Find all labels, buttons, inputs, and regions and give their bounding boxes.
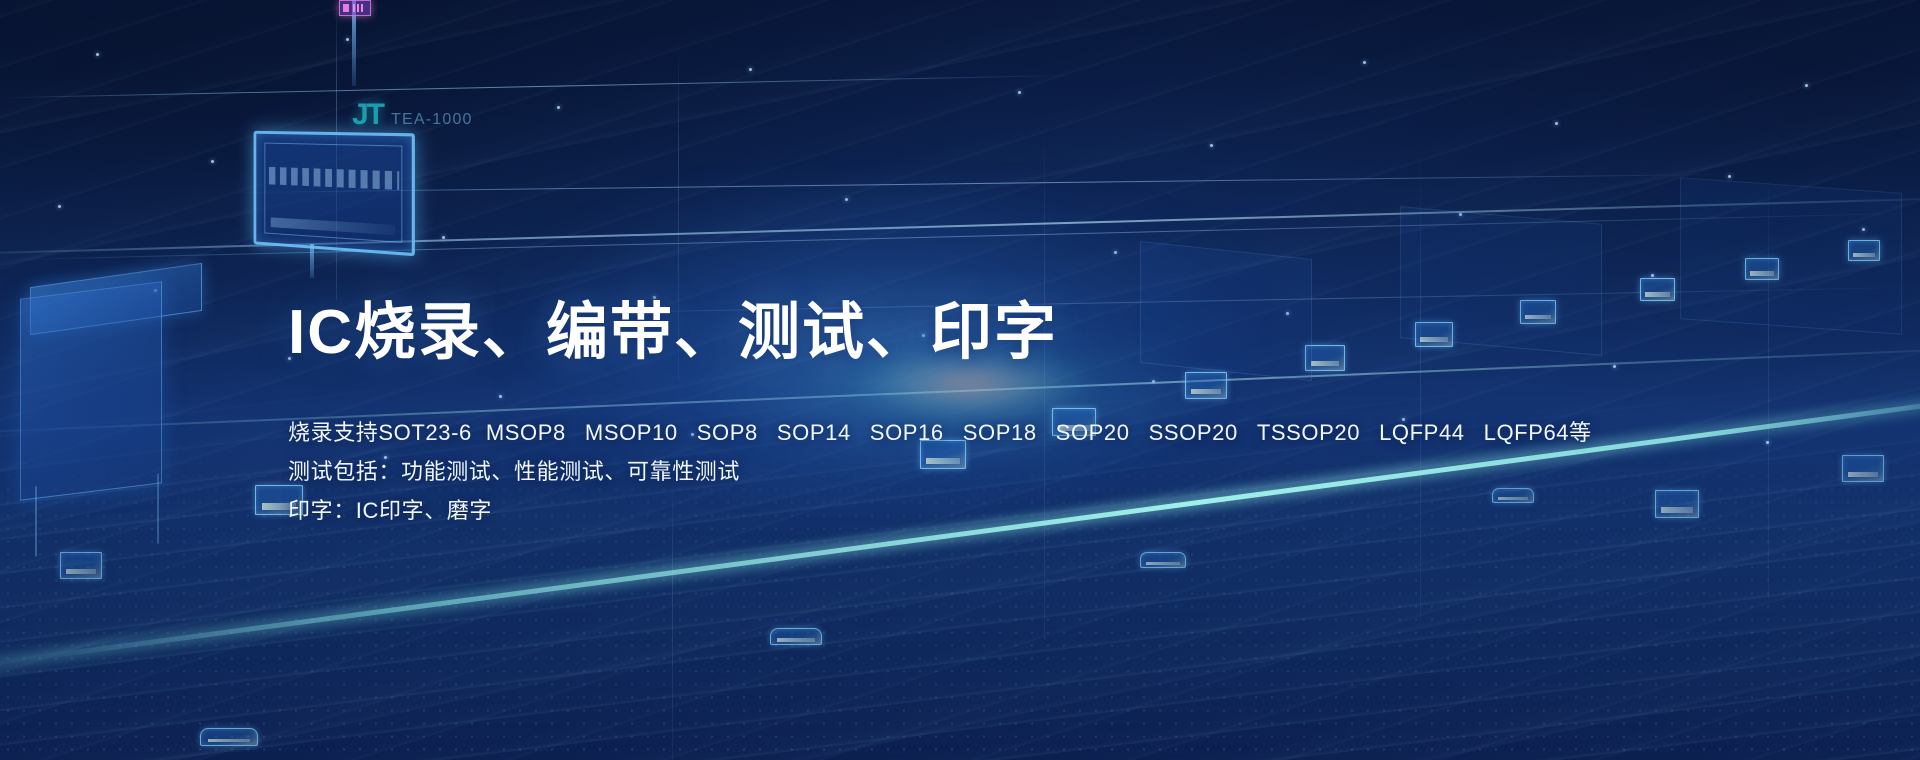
page-title: IC烧录、编带、测试、印字 [288,300,1568,367]
list-item: SOP8 [697,413,758,452]
list-item-burn-support: 烧录支持SOT23-6MSOP8MSOP10SOP8SOP14SOP16SOP1… [288,413,1568,452]
list-item-testing-scope: 测试包括：功能测试、性能测试、可靠性测试 [288,452,1568,491]
list-item: SSOP20 [1149,413,1238,452]
burn-support-lead: 烧录支持SOT23-6 [288,420,472,445]
banner-content: IC烧录、编带、测试、印字 烧录支持SOT23-6MSOP8MSOP10SOP8… [288,300,1568,530]
equipment-watermark: JT TEA-1000 [352,98,473,132]
watermark-logo-mark: JT [352,98,383,132]
list-item: SOP14 [777,413,851,452]
list-item: TSSOP20 [1257,413,1360,452]
list-item: MSOP8 [486,413,566,452]
package-list: MSOP8MSOP10SOP8SOP14SOP16SOP18SOP20SSOP2… [486,420,1592,445]
status-tag-icon [339,0,371,16]
hero-banner: JT TEA-1000 IC烧录、编带、测试、印字 烧录支持S [0,0,1920,760]
list-item: LQFP44 [1379,413,1465,452]
list-item: SOP16 [870,413,944,452]
service-detail-list: 烧录支持SOT23-6MSOP8MSOP10SOP8SOP14SOP16SOP1… [288,413,1568,530]
watermark-model-label: TEA-1000 [391,111,473,129]
list-item: SOP18 [963,413,1037,452]
list-item: MSOP10 [585,413,678,452]
list-item: LQFP64等 [1484,413,1592,452]
list-item-marking-scope: 印字：IC印字、磨字 [288,491,1568,530]
list-item: SOP20 [1056,413,1130,452]
